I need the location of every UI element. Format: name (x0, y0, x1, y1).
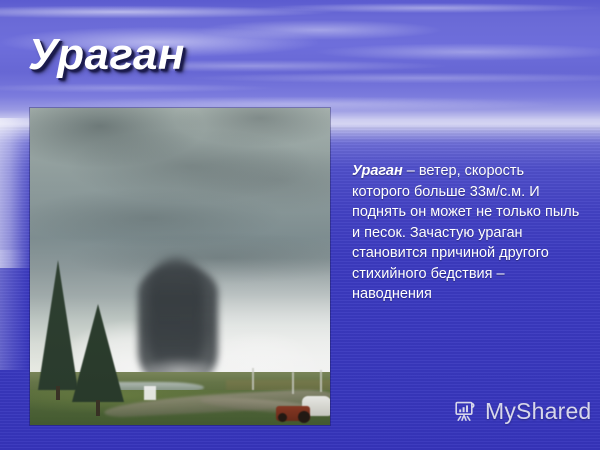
tractor-rear-wheel (298, 411, 310, 423)
slide-body-text: Ураган – ветер, скорость которого больше… (352, 161, 580, 305)
utility-post-1 (252, 368, 254, 390)
presentation-slide: Ураган Ураган – ветер, скорость которого… (0, 0, 600, 450)
utility-post-2 (292, 372, 294, 394)
gravel-driveway-branch (200, 394, 330, 418)
funnel-debris-collar (126, 352, 234, 390)
tornado-funnel (138, 266, 218, 388)
body-rest-text: – ветер, скорость которого больше 33м/с.… (352, 163, 579, 302)
body-lead-term: Ураган (352, 163, 403, 179)
slide-title: Ураган (28, 33, 185, 77)
conifer-tree-center (72, 304, 124, 402)
tree-trunk-left (56, 386, 60, 400)
grass-hedge-row (226, 380, 330, 400)
tornado-funnel-core (148, 258, 204, 376)
myshared-wordmark: MyShared (485, 400, 591, 423)
tornado-photo (30, 108, 330, 425)
rain-curtain (180, 258, 330, 383)
tree-trunk-center (96, 400, 100, 416)
dust-cloud-right (210, 304, 330, 394)
gravel-driveway (104, 388, 330, 418)
utility-post-3 (320, 370, 322, 392)
presentation-chart-icon (452, 398, 478, 424)
myshared-watermark: MyShared (452, 398, 591, 424)
tractor-front-wheel (278, 413, 287, 422)
yard-sign (144, 386, 156, 400)
